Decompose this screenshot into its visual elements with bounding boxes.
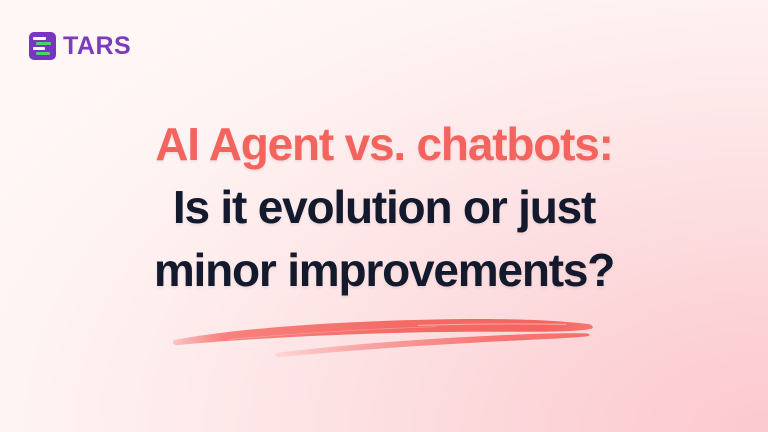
headline-line-1: AI Agent vs. chatbots:	[28, 113, 740, 176]
logo-bar-green-2	[36, 52, 50, 55]
logo-bar-white-1	[33, 37, 46, 40]
brand-logo[interactable]: TARS	[29, 32, 131, 60]
headline-line-3: minor improvements?	[28, 239, 740, 302]
headline-line-2: Is it evolution or just	[28, 176, 740, 239]
logo-bar-white-2	[33, 47, 45, 50]
tars-logo-mark-icon	[29, 32, 56, 60]
slide-canvas: TARS AI Agent vs. chatbots: Is it evolut…	[0, 0, 768, 432]
brand-wordmark: TARS	[63, 34, 131, 59]
brush-underline-icon	[168, 312, 598, 360]
headline-block: AI Agent vs. chatbots: Is it evolution o…	[0, 113, 768, 302]
logo-bar-green-1	[36, 42, 51, 45]
